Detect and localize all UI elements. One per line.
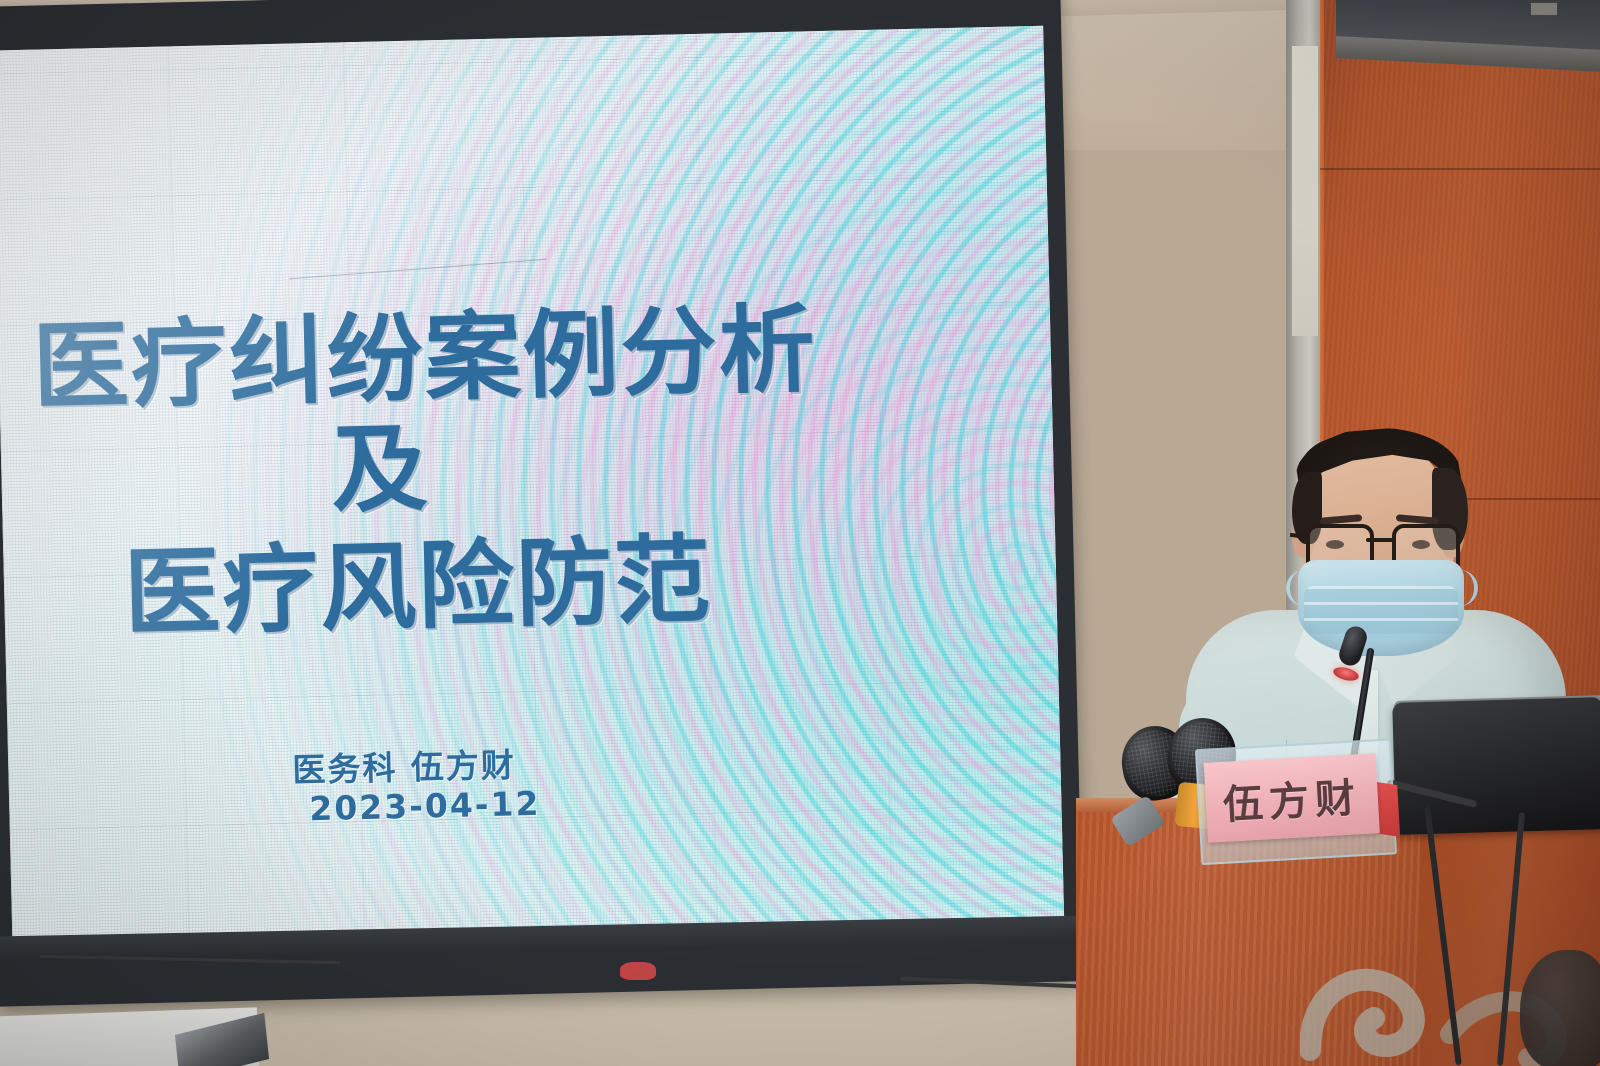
led-video-wall: 医疗纠纷案例分析 及 医疗风险防范 医务科 伍方财 2023-04-12 — [0, 0, 1084, 1007]
slide-author: 医务科 伍方财 — [292, 738, 517, 791]
lecture-photograph: 医疗纠纷案例分析 及 医疗风险防范 医务科 伍方财 2023-04-12 — [0, 0, 1600, 1066]
surgical-face-mask — [1298, 560, 1464, 656]
pillar-pale-panel — [1292, 46, 1318, 336]
slide-title-line-3: 医疗风险防范 — [122, 502, 713, 655]
placard-name-text: 伍方财 — [1221, 765, 1362, 831]
ceiling-box-bracket-icon — [1530, 2, 1558, 16]
mask-ear-loop-right — [1456, 570, 1478, 606]
foreground-dark-object — [1520, 950, 1600, 1066]
slide-date: 2023-04-12 — [309, 784, 541, 828]
placard-pink-card: 伍方财 — [1204, 753, 1380, 842]
closed-laptop — [1392, 697, 1600, 835]
led-screen-surface: 医疗纠纷案例分析 及 医疗风险防范 医务科 伍方财 2023-04-12 — [0, 26, 1064, 957]
wood-panel-seam — [1320, 168, 1600, 170]
glasses-bridge — [1366, 538, 1394, 542]
red-object-on-floor — [620, 962, 656, 980]
name-placard: 伍方财 — [1204, 753, 1381, 850]
slide-content: 医疗纠纷案例分析 及 医疗风险防范 医务科 伍方财 2023-04-12 — [0, 26, 1064, 957]
mask-ear-loop-left — [1286, 570, 1308, 606]
